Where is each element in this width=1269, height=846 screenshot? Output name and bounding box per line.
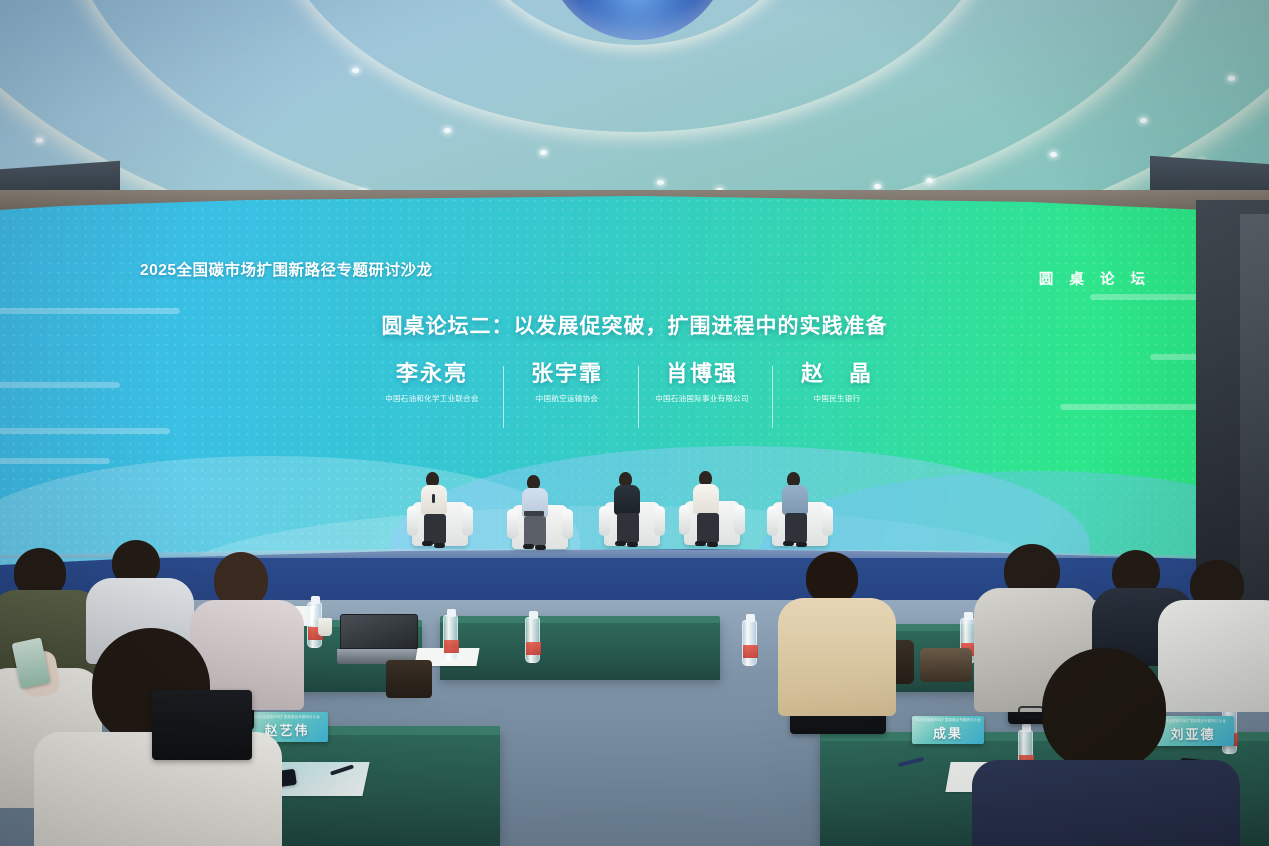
water-bottle[interactable] [742, 620, 757, 666]
person-shoe [615, 541, 626, 546]
person-body [778, 598, 896, 716]
person-body [972, 760, 1240, 846]
speaker-divider [772, 366, 773, 428]
person-shoe [627, 542, 638, 547]
person-legs [424, 514, 446, 544]
downlight-icon [1140, 118, 1147, 123]
person-shoe [434, 543, 445, 548]
speaker-divider [503, 366, 504, 428]
side-wall-column [1240, 214, 1269, 600]
person-shoe [783, 541, 794, 546]
forum-badge: 圆 桌 论 坛 [1039, 268, 1151, 289]
deco-bar [0, 458, 110, 464]
water-bottle[interactable] [525, 617, 540, 663]
speaker-org: 中国民生银行 [777, 394, 897, 404]
speaker-divider [638, 366, 639, 428]
event-title: 2025全国碳市场扩围新路径专题研讨沙龙 [140, 258, 432, 280]
speaker-org: 中国航空运输协会 [507, 394, 627, 404]
person-legs [697, 513, 719, 543]
ceiling [0, 0, 1269, 215]
speaker-4: 赵 晶 中国民生银行 [777, 362, 897, 404]
speaker-name: 赵 晶 [777, 362, 897, 385]
downlight-icon [352, 68, 359, 73]
handbag[interactable] [920, 648, 972, 682]
deco-bar [0, 382, 120, 388]
speaker-3: 肖博强 中国石油国际事业有限公司 [642, 362, 762, 404]
person-torso [614, 485, 640, 515]
person-torso [693, 484, 719, 514]
nameplate-name: 成果 [933, 723, 963, 742]
water-bottle[interactable] [443, 615, 458, 661]
person-legs [785, 513, 807, 543]
downlight-icon [36, 138, 43, 143]
audience-table [440, 618, 720, 680]
laptop[interactable] [340, 614, 418, 664]
speaker-org: 中国石油和化学工业联合会 [372, 394, 492, 404]
handbag[interactable] [386, 660, 432, 698]
person-shoe [695, 541, 706, 546]
person-legs [617, 513, 639, 543]
downlight-icon [874, 184, 881, 189]
nameplate-chengguo: 2025全国碳市场扩围新路径专题研讨沙龙 成果 [912, 716, 984, 744]
speaker-name: 张宇霏 [507, 362, 627, 385]
coffee-cup[interactable] [318, 618, 332, 636]
downlight-icon [444, 128, 451, 133]
office-chair[interactable] [152, 690, 252, 760]
person-shoe [523, 544, 534, 549]
conference-hall-scene: 2025全国碳市场扩围新路径专题研讨沙龙 圆 桌 论 坛 圆桌论坛二：以发展促突… [0, 0, 1269, 846]
person-head [1042, 648, 1166, 770]
downlight-icon [926, 178, 933, 183]
person-shoe [422, 541, 433, 546]
speaker-name: 肖博强 [642, 362, 762, 385]
table-edge [440, 616, 720, 623]
deco-bar [0, 428, 170, 434]
person-body [1158, 600, 1269, 712]
speaker-name: 李永亮 [372, 362, 492, 385]
panel-session-title: 圆桌论坛二：以发展促突破，扩围进程中的实践准备 [0, 310, 1269, 340]
downlight-icon [1228, 76, 1235, 81]
nameplate-name: 刘亚德 [1170, 724, 1215, 743]
speaker-org: 中国石油国际事业有限公司 [642, 394, 762, 404]
person-shoe [707, 542, 718, 547]
downlight-icon [540, 150, 547, 155]
laptop-screen [340, 614, 418, 649]
speaker-list: 李永亮 中国石油和化学工业联合会 张宇霏 中国航空运输协会 肖博强 中国石油国际… [372, 362, 897, 404]
speaker-1: 李永亮 中国石油和化学工业联合会 [372, 362, 492, 404]
downlight-icon [1050, 152, 1057, 157]
speaker-2: 张宇霏 中国航空运输协会 [507, 362, 627, 404]
microphone-icon [432, 494, 435, 503]
eyeglasses-icon [1018, 706, 1044, 718]
person-shoe [535, 545, 546, 550]
person-torso [782, 485, 808, 515]
person-legs [524, 516, 546, 546]
person-shoe [796, 542, 807, 547]
notebook-icon [524, 511, 544, 516]
downlight-icon [657, 180, 664, 185]
